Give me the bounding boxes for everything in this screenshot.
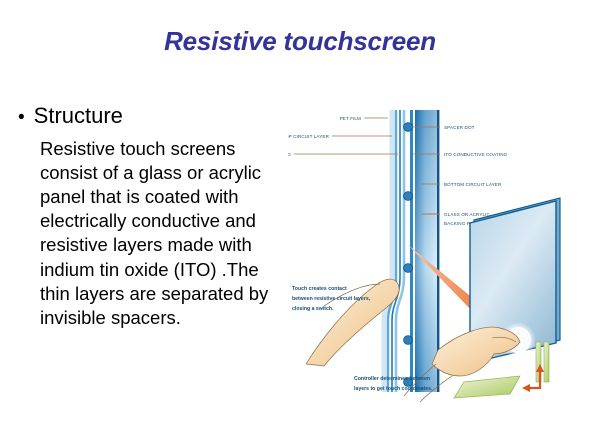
label-ito-conductive-coating-top: ITO CONDUCTIVE COATING <box>288 152 291 157</box>
glass-backing-panel-shade <box>415 110 437 392</box>
arrow-head-icon <box>522 384 530 392</box>
label-bottom-circuit-layer: BOTTOM CIRCUIT LAYER <box>444 182 502 187</box>
label-pet-film: PET FILM <box>340 116 361 121</box>
label-spacer-dot: SPACER DOT <box>444 125 475 130</box>
controller-board <box>454 376 520 398</box>
caption-controller-line-2: layers to get touch coordinates. <box>354 386 433 392</box>
bullet-item-structure: • Structure <box>18 103 288 128</box>
body-paragraph: Resistive touch screens consist of a gla… <box>40 137 280 329</box>
slide-canvas: Resistive touchscreen • Structure Resist… <box>0 0 600 444</box>
page-title: Resistive touchscreen <box>0 26 600 57</box>
content-text-block: • Structure Resistive touch screens cons… <box>18 103 288 330</box>
bullet-heading: Structure <box>34 103 123 128</box>
caption-touch-line-2: between resistive circuit layers, <box>292 296 371 302</box>
label-glass-or-acrylic: GLASS OR ACRYLIC <box>444 212 491 217</box>
hand-shape <box>432 327 520 376</box>
caption-touch-line-3: closing a switch. <box>292 306 334 312</box>
bottom-ito-band <box>410 110 413 392</box>
caption-controller-line-1: Controller determines between <box>354 376 430 382</box>
bullet-marker-icon: • <box>18 103 25 127</box>
resistive-touchscreen-diagram: PET FILM TOP CIRCUIT LAYER ITO CONDUCTIV… <box>288 92 596 404</box>
spacer-dot-icon <box>404 123 413 132</box>
connector-strip <box>544 342 549 382</box>
layer-cross-section <box>384 110 439 392</box>
label-top-circuit-layer: TOP CIRCUIT LAYER <box>288 134 330 139</box>
caption-touch-line-1: Touch creates contact <box>292 286 347 292</box>
left-label-group: PET FILM TOP CIRCUIT LAYER ITO CONDUCTIV… <box>288 116 398 157</box>
spacer-dot-icon <box>404 192 413 201</box>
spacer-dot-icon <box>404 264 413 273</box>
spacer-dot-icon <box>404 336 413 345</box>
label-ito-conductive-coating-bottom: ITO CONDUCTIVE COATING <box>444 152 508 157</box>
